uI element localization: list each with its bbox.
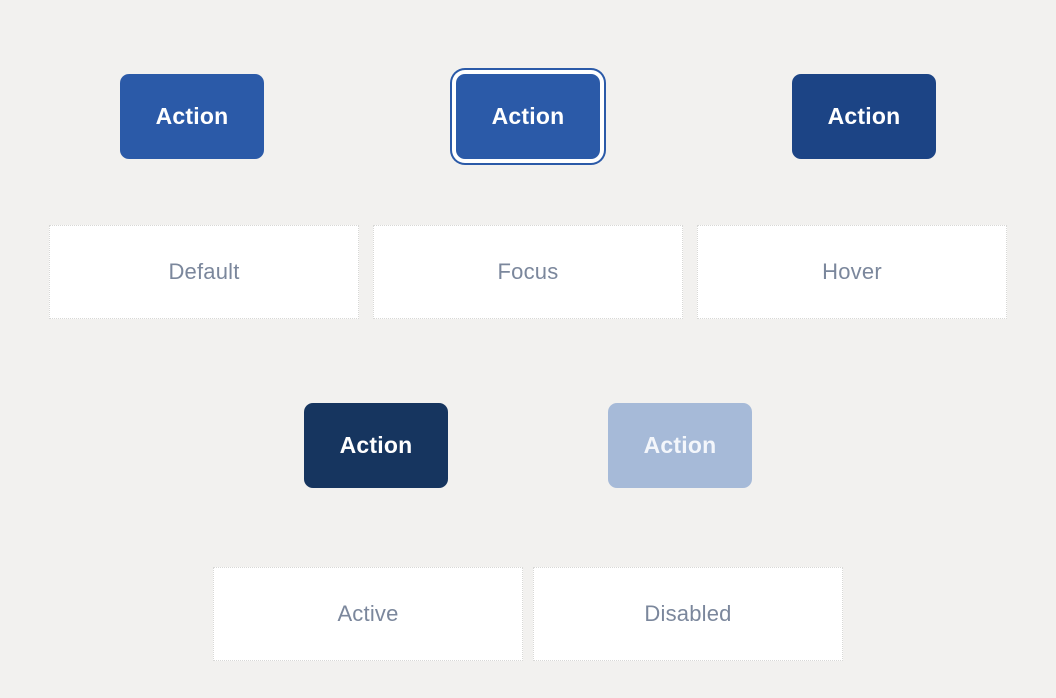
caption-card-active: Active (213, 567, 523, 661)
caption-label-hover: Hover (822, 259, 882, 285)
button-row-secondary-states: Action Action (0, 319, 1056, 488)
button-states-showcase: Action Action Action Default Focus Hover… (0, 0, 1056, 698)
caption-label-default: Default (168, 259, 239, 285)
button-slot-disabled: Action (608, 403, 752, 488)
caption-label-disabled: Disabled (644, 601, 731, 627)
caption-card-hover: Hover (697, 225, 1007, 319)
caption-label-active: Active (337, 601, 398, 627)
button-slot-focus: Action (450, 68, 606, 165)
caption-card-disabled: Disabled (533, 567, 843, 661)
button-slot-default: Action (120, 74, 264, 159)
caption-label-focus: Focus (498, 259, 559, 285)
button-slot-active: Action (304, 403, 448, 488)
caption-card-default: Default (49, 225, 359, 319)
action-button-focus[interactable]: Action (456, 74, 600, 159)
button-row-primary-states: Action Action Action (0, 0, 1056, 165)
caption-card-focus: Focus (373, 225, 683, 319)
action-button-disabled: Action (608, 403, 752, 488)
button-slot-hover: Action (792, 74, 936, 159)
action-button-hover[interactable]: Action (792, 74, 936, 159)
caption-row-secondary-states: Active Disabled (0, 488, 1056, 661)
caption-row-primary-states: Default Focus Hover (0, 165, 1056, 319)
action-button-active[interactable]: Action (304, 403, 448, 488)
action-button-default[interactable]: Action (120, 74, 264, 159)
